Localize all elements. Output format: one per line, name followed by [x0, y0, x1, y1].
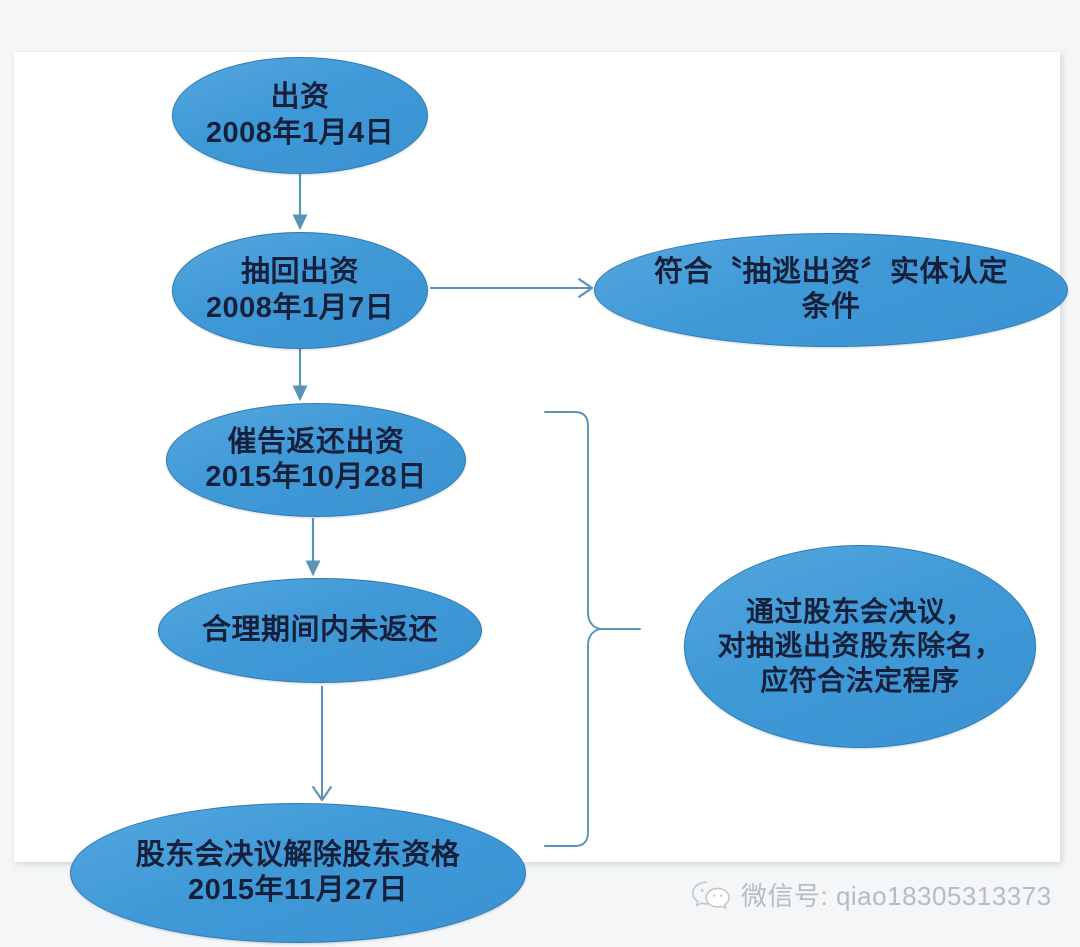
node-tongguo-jueyi-line3: 应符合法定程序 — [717, 664, 1002, 698]
node-heli-qijian-line1: 合理期间内未返还 — [202, 613, 438, 648]
node-heli-qijian[interactable]: 合理期间内未返还 — [158, 578, 482, 683]
node-chuzi-line1: 出资 — [206, 80, 394, 115]
node-chuzi-label: 出资 2008年1月4日 — [196, 80, 404, 151]
node-cuigao-fanhuan[interactable]: 催告返还出资 2015年10月28日 — [166, 403, 466, 517]
node-chouhui-chuzi-line1: 抽回出资 — [206, 255, 394, 290]
node-fuhe-tiaojian-line2: 条件 — [654, 290, 1008, 325]
node-jiechu-zige-line2: 2015年11月27日 — [136, 873, 461, 908]
node-chouhui-chuzi-label: 抽回出资 2008年1月7日 — [196, 255, 404, 326]
node-tongguo-jueyi-line1: 通过股东会决议， — [717, 595, 1002, 629]
node-chuzi-line2: 2008年1月4日 — [206, 116, 394, 151]
node-jiechu-zige-label: 股东会决议解除股东资格 2015年11月27日 — [126, 838, 471, 909]
node-tongguo-jueyi-line2: 对抽逃出资股东除名， — [717, 629, 1002, 663]
node-tongguo-jueyi-label: 通过股东会决议， 对抽逃出资股东除名， 应符合法定程序 — [707, 595, 1012, 697]
node-cuigao-fanhuan-line2: 2015年10月28日 — [205, 460, 427, 495]
node-cuigao-fanhuan-line1: 催告返还出资 — [205, 425, 427, 460]
node-jiechu-zige-line1: 股东会决议解除股东资格 — [136, 838, 461, 873]
node-tongguo-jueyi[interactable]: 通过股东会决议， 对抽逃出资股东除名， 应符合法定程序 — [684, 545, 1036, 748]
node-chuzi[interactable]: 出资 2008年1月4日 — [172, 57, 428, 174]
node-fuhe-tiaojian[interactable]: 符合〝抽逃出资〞实体认定 条件 — [594, 233, 1068, 347]
node-fuhe-tiaojian-line1: 符合〝抽逃出资〞实体认定 — [654, 255, 1008, 290]
slide-stage: 出资 2008年1月4日 抽回出资 2008年1月7日 符合〝抽逃出资〞实体认定… — [0, 0, 1080, 947]
node-chouhui-chuzi-line2: 2008年1月7日 — [206, 291, 394, 326]
node-jiechu-zige[interactable]: 股东会决议解除股东资格 2015年11月27日 — [70, 803, 526, 943]
node-heli-qijian-label: 合理期间内未返还 — [192, 613, 448, 648]
wechat-footer: 微信号: qiao18305313373 — [690, 876, 1052, 913]
node-cuigao-fanhuan-label: 催告返还出资 2015年10月28日 — [195, 425, 437, 496]
wechat-id-text: 微信号: qiao18305313373 — [741, 876, 1052, 913]
node-chouhui-chuzi[interactable]: 抽回出资 2008年1月7日 — [172, 232, 428, 349]
wechat-icon — [690, 879, 732, 911]
node-fuhe-tiaojian-label: 符合〝抽逃出资〞实体认定 条件 — [644, 255, 1018, 326]
